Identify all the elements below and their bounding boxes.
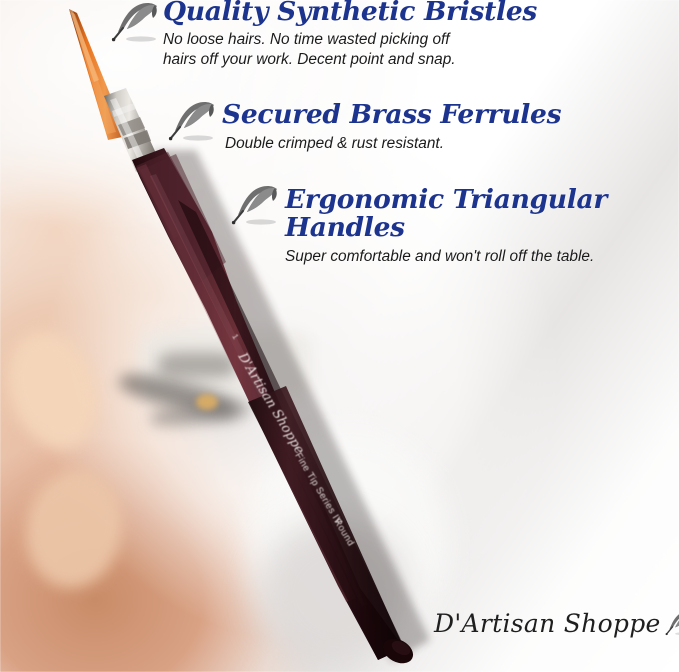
- feature-heading: Quality Synthetic Bristles: [163, 0, 537, 26]
- feature-block-ferrules: Secured Brass Ferrules Double crimped & …: [222, 101, 561, 154]
- feature-body: Double crimped & rust resistant.: [225, 134, 561, 154]
- quill-feather-icon: [231, 182, 285, 228]
- feature-block-bristles: Quality Synthetic Bristles No loose hair…: [163, 0, 537, 70]
- quill-feather-icon: [111, 0, 165, 45]
- quill-feather-icon: [168, 98, 222, 144]
- product-feature-image: 1 D'Artisan Shoppe Fine Tip Series IV Ro…: [0, 0, 679, 672]
- feature-body: No loose hairs. No time wasted picking o…: [163, 30, 537, 71]
- feature-body: Super comfortable and won't roll off the…: [285, 247, 607, 267]
- brand-logo: D'Artisan Shoppe: [434, 608, 679, 638]
- brand-name: D'Artisan Shoppe: [434, 609, 661, 638]
- feature-heading: Secured Brass Ferrules: [222, 101, 561, 129]
- feature-block-handles: Ergonomic Triangular Handles Super comfo…: [285, 186, 607, 267]
- feature-heading: Ergonomic Triangular Handles: [285, 186, 607, 241]
- quill-feather-icon: [665, 608, 679, 638]
